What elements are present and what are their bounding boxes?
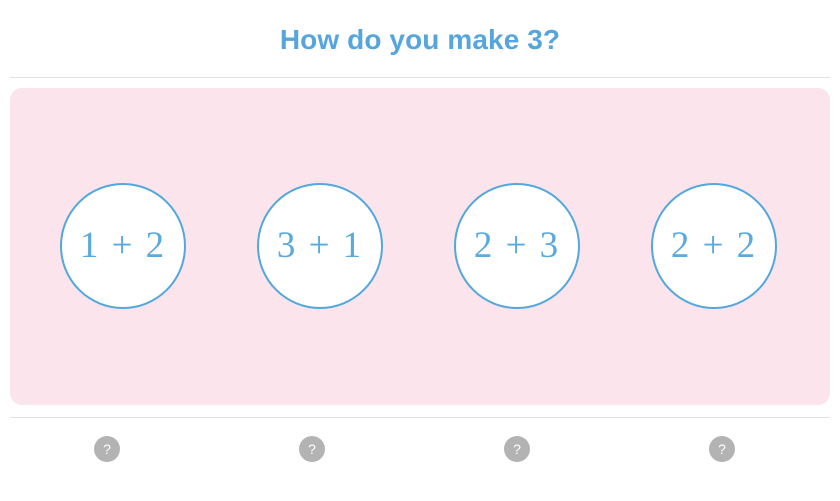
hint-badge-row: ? ? ? ? [0,418,840,501]
hint-badge-3[interactable]: ? [504,436,530,462]
answer-option-1[interactable]: 1 + 2 [60,183,186,309]
question-mark-icon: ? [718,442,726,456]
question-mark-icon: ? [103,442,111,456]
answer-option-label: 2 + 3 [474,227,560,264]
answer-option-4[interactable]: 2 + 2 [651,183,777,309]
hint-badge-1[interactable]: ? [94,436,120,462]
divider-top [10,77,830,78]
answer-options-panel: 1 + 2 3 + 1 2 + 3 2 + 2 [10,88,830,405]
answer-options-row: 1 + 2 3 + 1 2 + 3 2 + 2 [10,88,830,405]
hint-badge-4[interactable]: ? [709,436,735,462]
hint-badge-2[interactable]: ? [299,436,325,462]
page-title: How do you make 3? [280,26,560,54]
answer-option-label: 1 + 2 [80,227,166,264]
answer-option-3[interactable]: 2 + 3 [454,183,580,309]
answer-option-2[interactable]: 3 + 1 [257,183,383,309]
question-mark-icon: ? [308,442,316,456]
answer-option-label: 3 + 1 [277,227,363,264]
question-mark-icon: ? [513,442,521,456]
quiz-app: How do you make 3? 1 + 2 3 + 1 2 + 3 2 +… [0,0,840,501]
answer-option-label: 2 + 2 [671,227,757,264]
title-bar: How do you make 3? [0,0,840,77]
